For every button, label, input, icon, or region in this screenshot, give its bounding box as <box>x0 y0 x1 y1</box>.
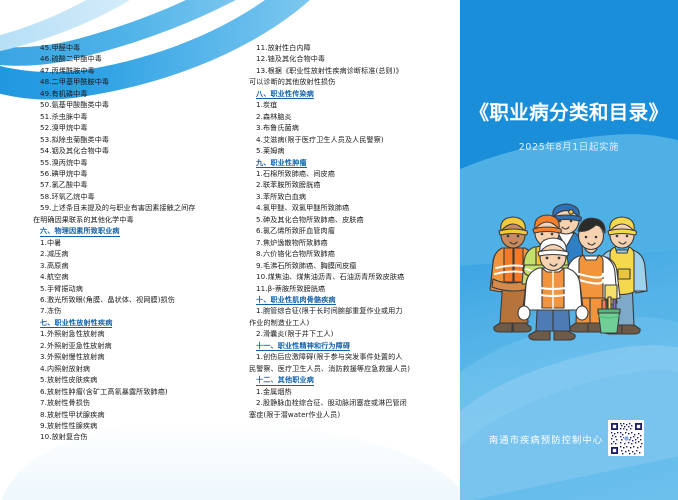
leaflet-inner-panels: 45.甲醛中毒46.硫酸二甲酯中毒47.丙烯酰胺中毒48.二甲基甲酰胺中毒49.… <box>0 0 460 500</box>
list-item: 52.溴甲烷中毒 <box>33 122 229 133</box>
list-item: 9.放射性性腺疾病 <box>33 420 229 431</box>
list-item: 6.放射性肿瘤(含矿工高氡暴露所致肺癌) <box>33 386 229 397</box>
list-item: 9.毛沸石所致肺癌、胸膜间皮瘤 <box>249 260 445 271</box>
section-heading: 十、职业性肌肉骨骼疾病 <box>249 294 445 305</box>
list-item: 46.硫酸二甲酯中毒 <box>33 53 229 64</box>
list-item: 50.氨基甲酸酯类中毒 <box>33 99 229 110</box>
list-item-continuation: 民警察、医疗卫生人员、消防救援等应急救援人员) <box>249 363 445 374</box>
cover-subtitle: 2025年8月1日起实施 <box>460 139 678 153</box>
list-item: 5.砷及其化合物所致肺癌、皮肤癌 <box>249 214 445 225</box>
section-heading-text: 十一、职业性精神和行为障碍 <box>256 341 350 352</box>
list-item: 11.β-萘胺所致膀胱癌 <box>249 283 445 294</box>
section-heading: 十二、其他职业病 <box>249 374 445 385</box>
list-item: 4.内照射放射病 <box>33 363 229 374</box>
list-item: 6.激光所致眼(角膜、晶状体、视网膜)损伤 <box>33 294 229 305</box>
list-item: 8.六价铬化合物所致肺癌 <box>249 248 445 259</box>
list-item: 1.石棉所致肺癌、间皮癌 <box>249 168 445 179</box>
list-item: 5.放射性皮肤疾病 <box>33 374 229 385</box>
list-item: 13.根据《职业性放射性疾病诊断标准(总则)》 <box>249 65 445 76</box>
list-item: 4.航空病 <box>33 271 229 282</box>
list-item: 53.拟除虫菊酯类中毒 <box>33 134 229 145</box>
list-item: 49.有机磷中毒 <box>33 88 229 99</box>
list-item-continuation: 可以诊断的其他放射性损伤 <box>249 76 445 87</box>
list-item: 1.外照射急性放射病 <box>33 328 229 339</box>
text-columns: 45.甲醛中毒46.硫酸二甲酯中毒47.丙烯酰胺中毒48.二甲基甲酰胺中毒49.… <box>0 0 460 500</box>
list-item: 48.二甲基甲酰胺中毒 <box>33 76 229 87</box>
list-item-continuation: 塞症(限于潜water作业人员) <box>249 409 445 420</box>
list-item: 12.铀及其化合物中毒 <box>249 53 445 64</box>
text-column-2: 11.放射性白内障12.铀及其化合物中毒13.根据《职业性放射性疾病诊断标准(总… <box>249 42 445 490</box>
list-item: 57.氯乙酸中毒 <box>33 179 229 190</box>
cover-title: 《职业病分类和目录》 <box>460 96 678 125</box>
text-column-1: 45.甲醛中毒46.硫酸二甲酯中毒47.丙烯酰胺中毒48.二甲基甲酰胺中毒49.… <box>33 42 229 490</box>
list-item: 2.滑囊炎(限于井下工人) <box>249 328 445 339</box>
list-item: 1.腕管综合征(限于长时间腕部重复作业或用力 <box>249 305 445 316</box>
organization-name: 南通市疾病预防控制中心 <box>476 432 616 446</box>
list-item: 54.铟及其化合物中毒 <box>33 145 229 156</box>
list-item: 8.放射性甲状腺疾病 <box>33 409 229 420</box>
section-heading: 九、职业性肿瘤 <box>249 157 445 168</box>
section-heading: 十一、职业性精神和行为障碍 <box>249 340 445 351</box>
list-item: 2.股静脉血栓综合征、股动脉闭塞症或淋巴管闭 <box>249 397 445 408</box>
list-item: 3.苯所致白血病 <box>249 191 445 202</box>
list-item: 47.丙烯酰胺中毒 <box>33 65 229 76</box>
list-item: 1.创伤后应激障碍(限于参与突发事件处置的人 <box>249 351 445 362</box>
section-heading-text: 六、物理因素所致职业病 <box>40 226 120 237</box>
list-item: 4.氯甲醚、双氯甲醚所致肺癌 <box>249 202 445 213</box>
list-item: 3.高原病 <box>33 260 229 271</box>
section-heading-text: 九、职业性肿瘤 <box>256 158 307 169</box>
list-item: 10.煤焦油、煤焦油沥青、石油沥青所致皮肤癌 <box>249 271 445 282</box>
list-item: 2.联苯胺所致膀胱癌 <box>249 179 445 190</box>
list-item-continuation: 作业的制造业工人) <box>249 317 445 328</box>
qr-code[interactable] <box>608 420 644 456</box>
list-item: 7.冻伤 <box>33 305 229 316</box>
leaflet-page: 45.甲醛中毒46.硫酸二甲酯中毒47.丙烯酰胺中毒48.二甲基甲酰胺中毒49.… <box>0 0 678 500</box>
list-item: 55.溴丙烷中毒 <box>33 157 229 168</box>
section-heading: 六、物理因素所致职业病 <box>33 225 229 236</box>
list-item: 59.上述条目未提及的与职业有害因素接触之间存 <box>33 202 229 213</box>
list-item: 4.艾滋病(限于医疗卫生人员及人民警察) <box>249 134 445 145</box>
list-item: 45.甲醛中毒 <box>33 42 229 53</box>
section-heading-text: 七、职业性放射性疾病 <box>40 318 112 329</box>
list-item: 56.碘甲烷中毒 <box>33 168 229 179</box>
list-item: 10.放射复合伤 <box>33 431 229 442</box>
list-item: 1.炭疽 <box>249 99 445 110</box>
list-item: 58.环氧乙烷中毒 <box>33 191 229 202</box>
section-heading: 八、职业性传染病 <box>249 88 445 99</box>
list-item: 7.放射性骨损伤 <box>33 397 229 408</box>
section-heading-text: 八、职业性传染病 <box>256 89 314 100</box>
list-item: 5.手臂振动病 <box>33 283 229 294</box>
section-heading: 七、职业性放射性疾病 <box>33 317 229 328</box>
list-item: 7.焦炉逸散物所致肺癌 <box>249 237 445 248</box>
list-item: 11.放射性白内障 <box>249 42 445 53</box>
leaflet-cover-panel: 《职业病分类和目录》 2025年8月1日起实施 <box>460 0 678 500</box>
list-item: 5.莱姆病 <box>249 145 445 156</box>
list-item: 3.外照射慢性放射病 <box>33 351 229 362</box>
list-item: 1.中暑 <box>33 237 229 248</box>
list-item: 1.金属烟热 <box>249 386 445 397</box>
list-item: 2.森林脑炎 <box>249 111 445 122</box>
list-item: 51.杀虫脒中毒 <box>33 111 229 122</box>
section-heading-text: 十二、其他职业病 <box>256 375 314 386</box>
section-heading-text: 十、职业性肌肉骨骼疾病 <box>256 295 336 306</box>
list-item: 2.外照射亚急性放射病 <box>33 340 229 351</box>
list-item-continuation: 在明确因果联系的其他化学中毒 <box>33 214 229 225</box>
list-item: 2.减压病 <box>33 248 229 259</box>
list-item: 6.氯乙烯所致肝血管肉瘤 <box>249 225 445 236</box>
list-item: 3.布鲁氏菌病 <box>249 122 445 133</box>
group-of-workers-illustration <box>478 173 664 353</box>
